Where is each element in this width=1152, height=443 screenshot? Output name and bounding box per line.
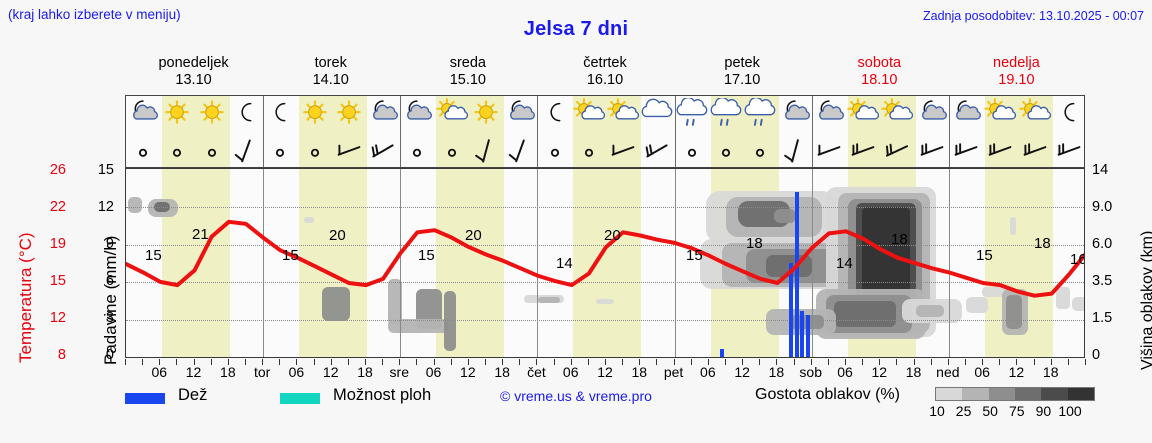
day-date: 18.10 (811, 72, 948, 89)
wind-barb (165, 136, 189, 168)
time-axis: 061218tor061218sre061218čet061218pet0612… (125, 359, 1085, 385)
cloud-density-step (936, 388, 962, 400)
cloud-density-step (1068, 388, 1094, 400)
weather-icon-moon (538, 98, 572, 134)
wind-barb (337, 136, 361, 168)
cloud-density-step (1015, 388, 1041, 400)
forecast-plot: 152115201520142015181418151816 (125, 168, 1085, 358)
plot-frame: 152115201520142015181418151816 (125, 168, 1085, 358)
cloudheight-tick-1: 9.0 (1092, 199, 1134, 215)
cloudheight-tick-2: 6.0 (1092, 236, 1134, 252)
weather-icon-cloud-rain (675, 98, 709, 134)
cloudheight-tick-4: 1.5 (1092, 310, 1134, 326)
weather-icon-sun (332, 98, 366, 134)
day-header-2: sreda15.10 (399, 55, 536, 89)
day-date: 14.10 (262, 72, 399, 89)
temp-tick-2: 19 (34, 236, 66, 252)
precip-tick-1: 12 (88, 199, 114, 215)
temperature-label: 16 (1070, 251, 1085, 268)
day-date: 15.10 (399, 72, 536, 89)
wind-barb (920, 136, 944, 168)
wind-barb (851, 136, 875, 168)
weather-icon-moon-cloud (778, 98, 812, 134)
temperature-curve-layer (126, 169, 1085, 358)
precip-tick-5: 0 (88, 347, 114, 363)
day-name: torek (262, 55, 399, 72)
temperature-axis-title: Temperatura (°C) (16, 232, 36, 363)
wind-barb (783, 136, 807, 168)
weather-icon-sun-cloud (846, 98, 880, 134)
weather-icon-moon (1052, 98, 1086, 134)
wind-barb (268, 136, 292, 168)
wind-barb (645, 136, 669, 168)
precip-tick-0: 15 (88, 162, 114, 178)
time-tick (1085, 359, 1086, 365)
shower-legend-swatch (280, 393, 320, 404)
wind-barb (474, 136, 498, 168)
weather-icon-sun (160, 98, 194, 134)
temperature-label: 14 (836, 255, 853, 272)
weather-icon-band (125, 95, 1085, 168)
weather-icon-moon-cloud (949, 98, 983, 134)
cloud-density-scale-label: 90 (1028, 403, 1058, 419)
temp-tick-5: 8 (34, 347, 66, 363)
temperature-label: 18 (1034, 235, 1051, 252)
temperature-label: 20 (329, 227, 346, 244)
wind-barb (1023, 136, 1047, 168)
cloud-density-step (1041, 388, 1067, 400)
cloud-density-scale-labels: 1025507590100 (925, 403, 1110, 421)
wind-barb (680, 136, 704, 168)
cloud-density-scale-label: 50 (975, 403, 1005, 419)
temperature-label: 15 (145, 247, 162, 264)
cloud-density-step (989, 388, 1015, 400)
cloudheight-tick-3: 3.5 (1092, 273, 1134, 289)
temp-tick-4: 12 (34, 310, 66, 326)
weather-icon-sun-cloud (983, 98, 1017, 134)
weather-icon-sun-cloud (435, 98, 469, 134)
weather-icon-cloud-rain (743, 98, 777, 134)
day-name: ponedeljek (125, 55, 262, 72)
cloud-density-legend-title: Gostota oblakov (%) (755, 386, 900, 404)
day-date: 17.10 (674, 72, 811, 89)
wind-barb (748, 136, 772, 168)
wind-barb (440, 136, 464, 168)
temp-tick-3: 15 (34, 273, 66, 289)
weather-icon-moon-cloud (126, 98, 160, 134)
rain-legend-label: Dež (178, 386, 207, 405)
day-header-4: petek17.10 (674, 55, 811, 89)
weather-icon-cloud-rain (709, 98, 743, 134)
temperature-label: 20 (604, 227, 621, 244)
day-date: 19.10 (948, 72, 1085, 89)
temperature-label: 18 (891, 231, 908, 248)
day-date: 13.10 (125, 72, 262, 89)
day-name: sobota (811, 55, 948, 72)
day-date: 16.10 (536, 72, 673, 89)
rain-legend-swatch (125, 393, 165, 404)
wind-barb (543, 136, 567, 168)
wind-barb (885, 136, 909, 168)
wind-barb (577, 136, 601, 168)
weather-icon-sun-cloud (572, 98, 606, 134)
day-name: nedelja (948, 55, 1085, 72)
wind-barb (303, 136, 327, 168)
legend: Dež Možnost ploh © vreme.us & vreme.pro … (125, 386, 1145, 432)
cloud-density-scale-label: 25 (949, 403, 979, 419)
weather-icon-moon (263, 98, 297, 134)
temperature-label: 15 (282, 247, 299, 264)
wind-barb (200, 136, 224, 168)
day-header-3: četrtek16.10 (536, 55, 673, 89)
cloud-density-scale-label: 75 (1002, 403, 1032, 419)
wind-barb (234, 136, 258, 168)
weather-icon-sun (195, 98, 229, 134)
temperature-label: 15 (418, 247, 435, 264)
precipitation-axis-title: Padavine (mm/h) (101, 236, 121, 365)
precip-tick-2: 9 (88, 236, 114, 252)
weather-icon-moon-cloud (503, 98, 537, 134)
day-header-1: torek14.10 (262, 55, 399, 89)
temperature-label: 15 (686, 247, 703, 264)
weather-icon-sun (298, 98, 332, 134)
wind-barb (508, 136, 532, 168)
cloud-density-gradient-bar (935, 387, 1095, 401)
wind-barb (714, 136, 738, 168)
wind-barb (611, 136, 635, 168)
wind-barb (817, 136, 841, 168)
day-name: sreda (399, 55, 536, 72)
wind-barb (405, 136, 429, 168)
time-label: 18 (1031, 364, 1071, 380)
shower-legend-label: Možnost ploh (333, 386, 431, 405)
precip-tick-3: 6 (88, 273, 114, 289)
day-header-5: sobota18.10 (811, 55, 948, 89)
day-header-6: nedelja19.10 (948, 55, 1085, 89)
temperature-label: 15 (976, 247, 993, 264)
temperature-label: 20 (465, 227, 482, 244)
weather-icon-moon-cloud (400, 98, 434, 134)
cloud-density-scale-label: 100 (1055, 403, 1085, 419)
weather-icon-moon-cloud (915, 98, 949, 134)
weather-icon-sun-cloud (1018, 98, 1052, 134)
wind-barb (131, 136, 155, 168)
cloudheight-tick-5: 0 (1092, 347, 1134, 363)
copyright-link[interactable]: © vreme.us & vreme.pro (500, 388, 652, 404)
temperature-label: 21 (192, 226, 209, 243)
cloud-density-scale-label: 10 (922, 403, 952, 419)
cloud-height-axis-title: Višina oblakov (km) (1139, 231, 1152, 370)
temp-tick-1: 22 (34, 199, 66, 215)
weather-icon-sun-cloud (606, 98, 640, 134)
weather-icon-cloud (640, 98, 674, 134)
precip-tick-4: 3 (88, 310, 114, 326)
temp-tick-0: 26 (34, 162, 66, 178)
temperature-label: 14 (556, 255, 573, 272)
temperature-label: 18 (746, 235, 763, 252)
weather-icon-moon-cloud (812, 98, 846, 134)
day-header-row: ponedeljek13.10torek14.10sreda15.10četrt… (125, 55, 1085, 95)
wind-barb (371, 136, 395, 168)
weather-icon-sun (469, 98, 503, 134)
time-tick (125, 359, 126, 365)
weather-icon-sun-cloud (880, 98, 914, 134)
day-name: petek (674, 55, 811, 72)
wind-barb (988, 136, 1012, 168)
weather-icon-moon-cloud (366, 98, 400, 134)
last-update-text: Zadnja posodobitev: 13.10.2025 - 00:07 (923, 9, 1144, 23)
cloudheight-tick-0: 14 (1092, 162, 1134, 178)
day-header-0: ponedeljek13.10 (125, 55, 262, 89)
wind-barb (1057, 136, 1081, 168)
day-name: četrtek (536, 55, 673, 72)
cloud-density-step (962, 388, 988, 400)
wind-barb (954, 136, 978, 168)
weather-icon-moon (229, 98, 263, 134)
